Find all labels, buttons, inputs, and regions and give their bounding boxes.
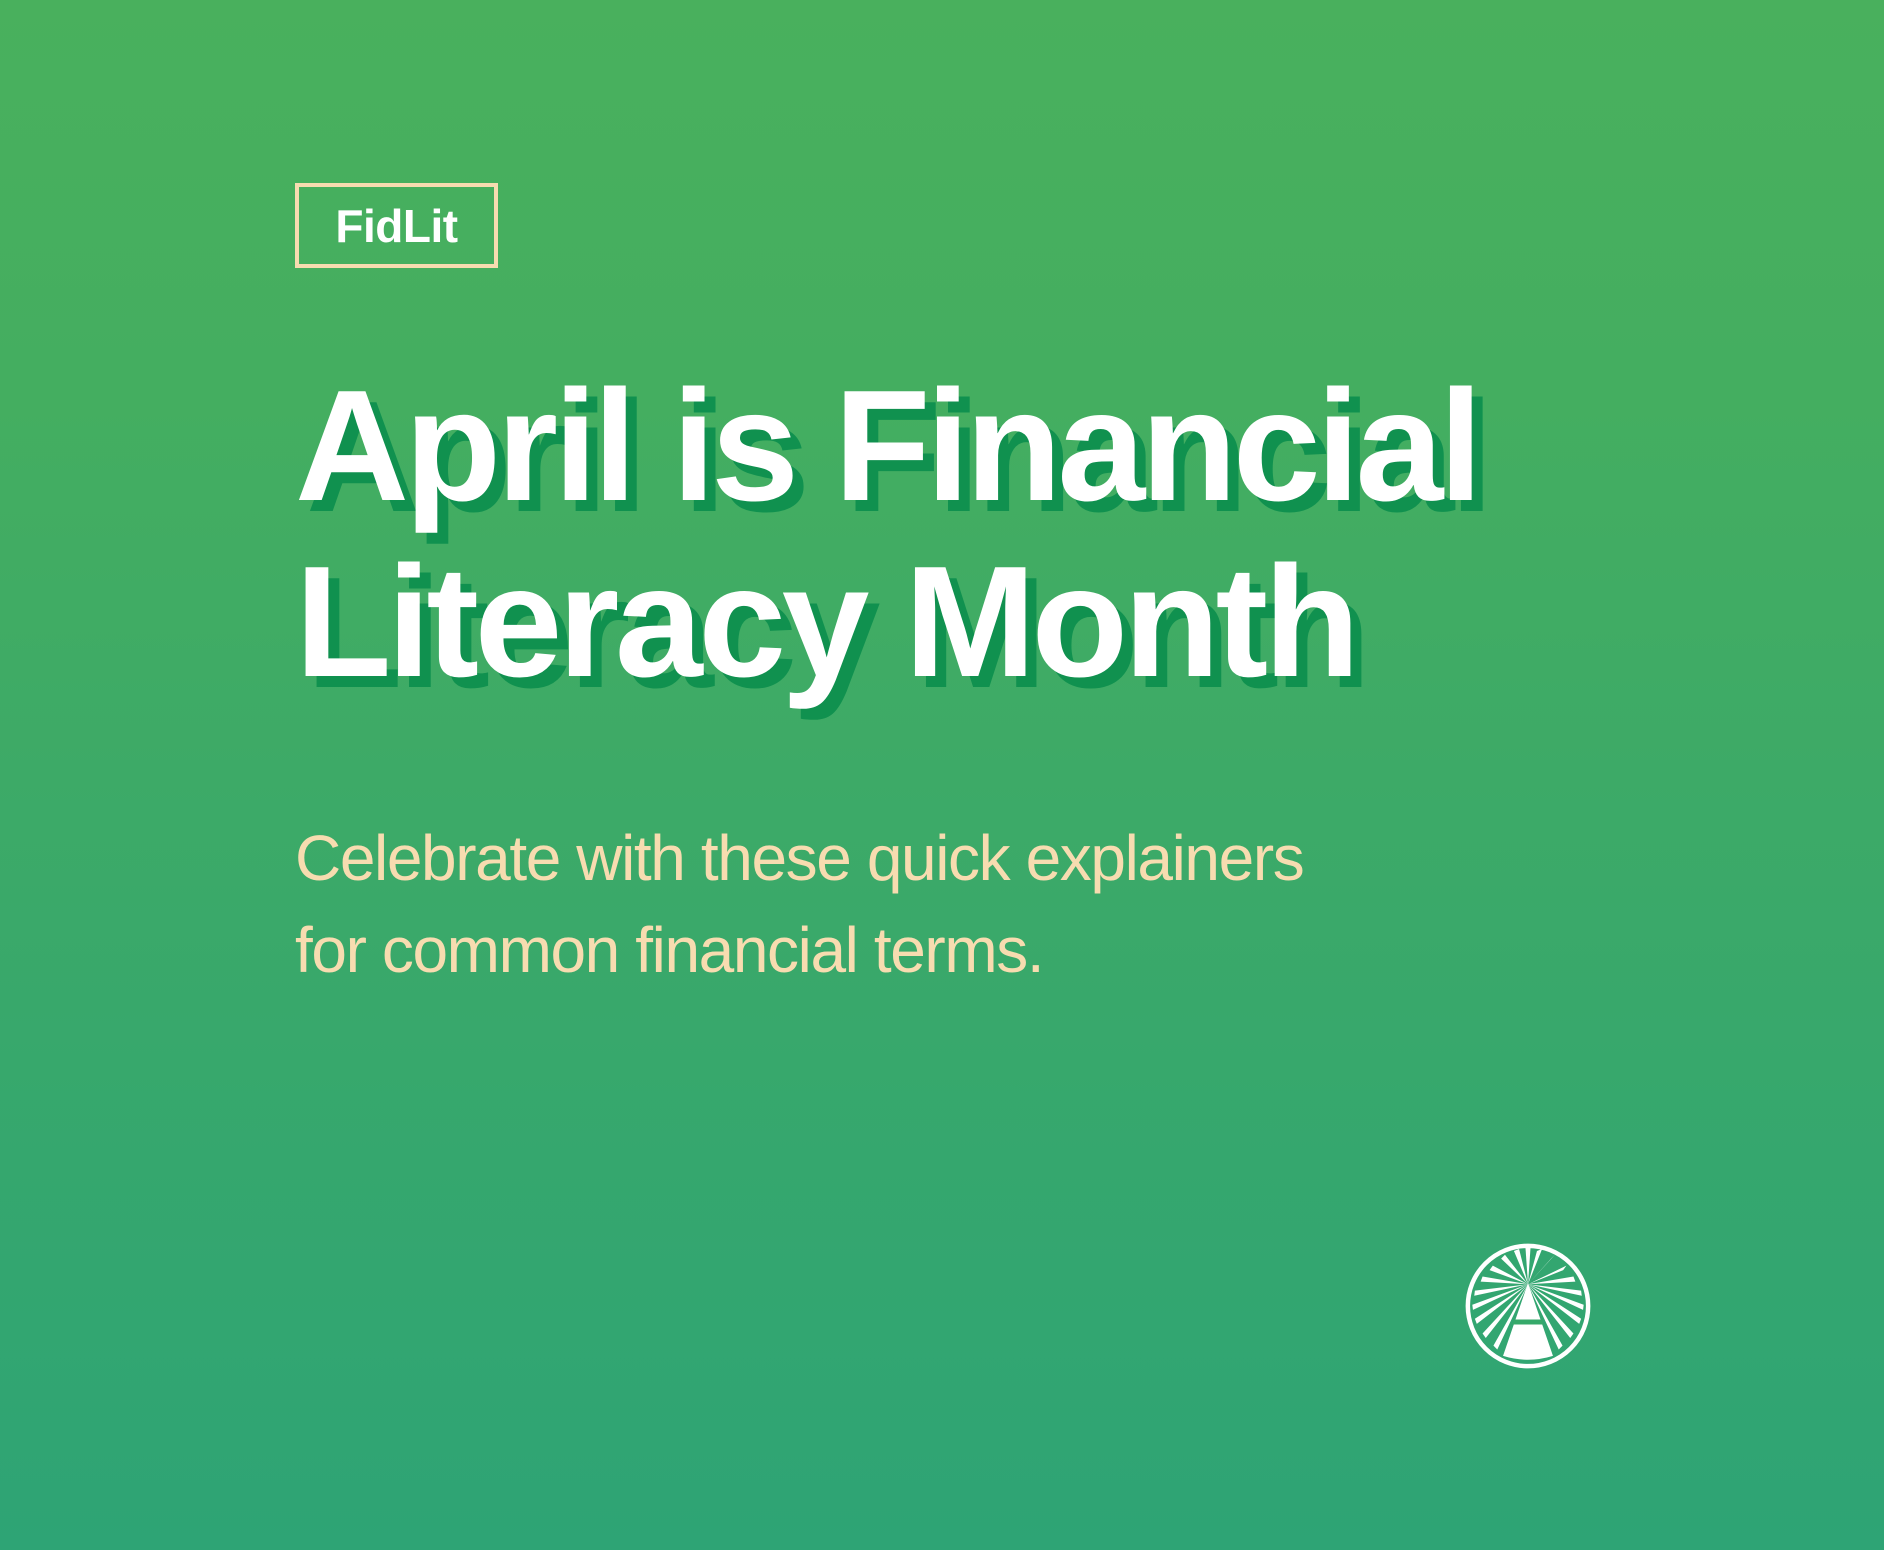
subtitle-line-2: for common financial terms. xyxy=(295,904,1545,996)
subtitle: Celebrate with these quick explainers fo… xyxy=(295,812,1545,996)
subtitle-line-1: Celebrate with these quick explainers xyxy=(295,812,1545,904)
headline: April is Financial Literacy Month xyxy=(295,358,1645,710)
fidlit-badge: FidLit xyxy=(295,183,498,268)
headline-line-1: April is Financial xyxy=(295,358,1645,534)
headline-line-2: Literacy Month xyxy=(295,534,1645,710)
fidlit-badge-label: FidLit xyxy=(335,203,457,249)
promotional-poster: FidLit April is Financial Literacy Month… xyxy=(0,0,1884,1550)
fidelity-pyramid-icon xyxy=(1464,1242,1592,1370)
